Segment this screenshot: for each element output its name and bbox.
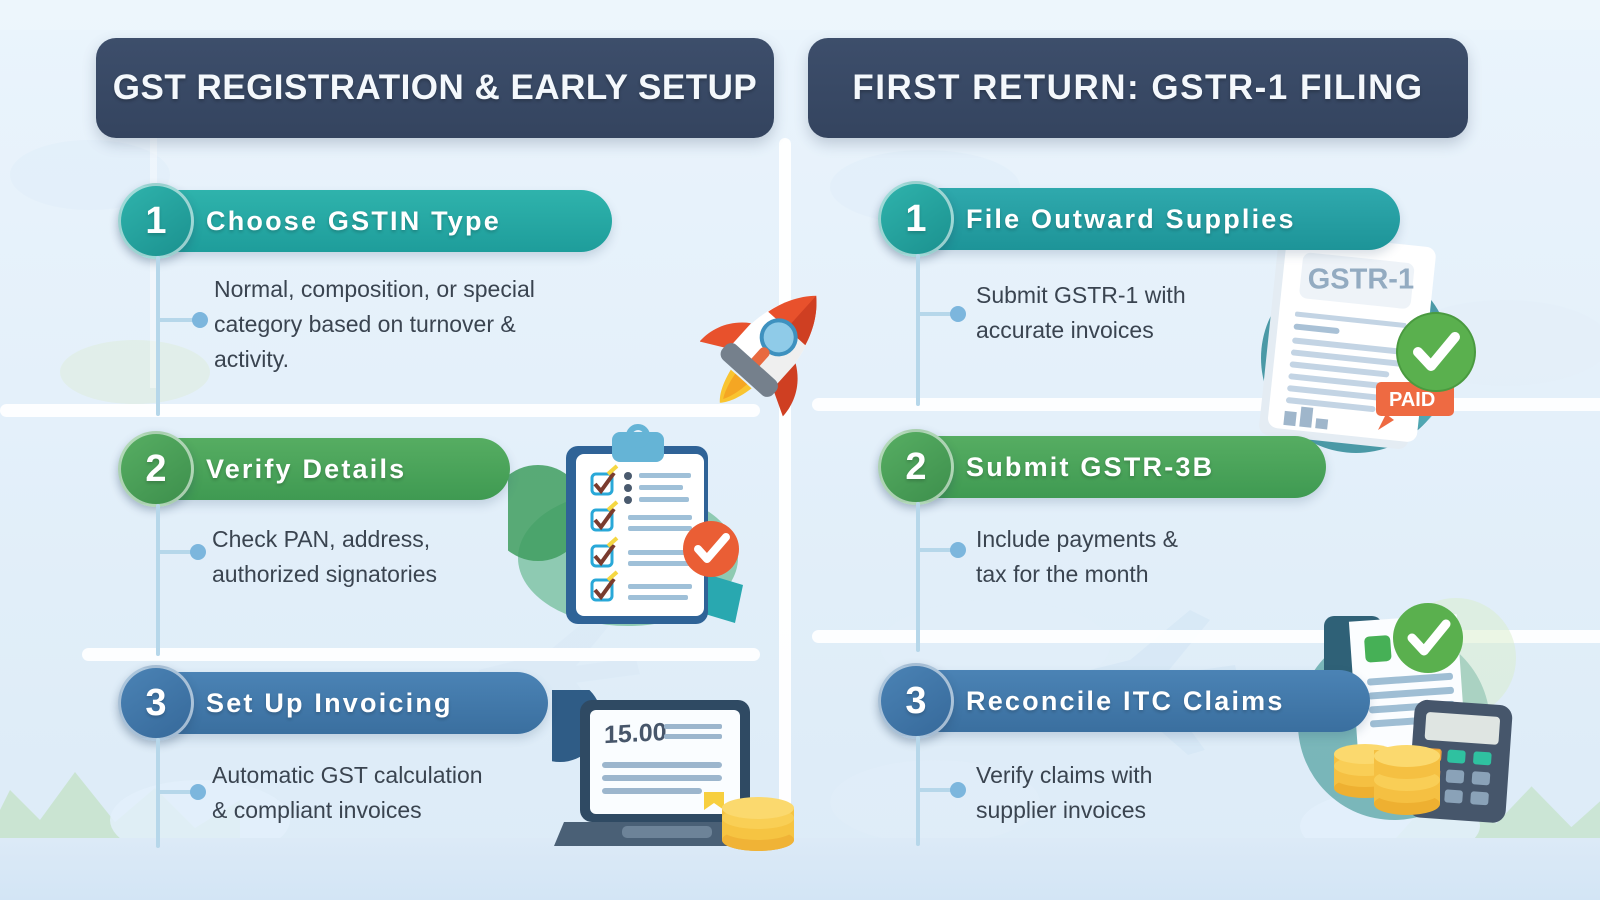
left-header-text: GST REGISTRATION & EARLY SETUP (113, 68, 757, 108)
infographic-canvas: GST REGISTRATION & EARLY SETUP FIRST RET… (0, 0, 1600, 900)
step-left-2-description: Check PAN, address, authorized signatori… (212, 522, 632, 592)
step-left-1[interactable]: 1 Choose GSTIN Type (120, 190, 612, 252)
step-right-1-badge: 1 (878, 181, 954, 257)
step-left-2-badge: 2 (118, 431, 194, 507)
step-left-1-badge: 1 (118, 183, 194, 259)
step-left-2-title: Verify Details (206, 454, 406, 485)
step-right-2[interactable]: 2 Submit GSTR-3B (880, 436, 1326, 498)
step-left-2-pill[interactable]: 2 Verify Details (120, 438, 510, 500)
bg-cloud-5 (60, 340, 210, 404)
step-right-2-title: Submit GSTR-3B (966, 452, 1214, 483)
step-right-2-pill[interactable]: 2 Submit GSTR-3B (880, 436, 1326, 498)
step-left-1-description: Normal, composition, or special category… (214, 272, 634, 377)
step-right-3-number: 3 (905, 680, 926, 723)
gstr1-document-illustration: GSTR-1 PAID (1246, 236, 1486, 466)
svg-text:15.00: 15.00 (604, 718, 667, 749)
svg-text:PAID: PAID (1389, 389, 1435, 411)
step-right-1-pill[interactable]: 1 File Outward Supplies (880, 188, 1400, 250)
step-right-3-badge: 3 (878, 663, 954, 739)
connector-right-2-vertical (916, 502, 920, 652)
connector-right-3-dot (950, 782, 966, 798)
step-right-3-title: Reconcile ITC Claims (966, 686, 1285, 717)
step-right-1-number: 1 (905, 198, 926, 241)
right-column-header: FIRST RETURN: GSTR-1 FILING (808, 38, 1468, 138)
step-left-2-number: 2 (145, 448, 166, 491)
svg-text:GSTR-1: GSTR-1 (1308, 264, 1414, 296)
connector-left-1-vertical (156, 256, 160, 416)
step-right-2-description: Include payments & tax for the month (976, 522, 1306, 592)
connector-right-1-dot (950, 306, 966, 322)
connector-right-2-dot (950, 542, 966, 558)
step-right-1-title: File Outward Supplies (966, 204, 1296, 235)
step-left-3-pill[interactable]: 3 Set Up Invoicing (120, 672, 548, 734)
step-left-1-pill[interactable]: 1 Choose GSTIN Type (120, 190, 612, 252)
left-column-header: GST REGISTRATION & EARLY SETUP (96, 38, 774, 138)
divider-horizontal-3 (82, 648, 760, 661)
step-right-3-pill[interactable]: 3 Reconcile ITC Claims (880, 670, 1370, 732)
step-left-3-badge: 3 (118, 665, 194, 741)
step-left-3-description: Automatic GST calculation & compliant in… (212, 758, 632, 828)
step-left-1-number: 1 (145, 200, 166, 243)
bg-top-band (0, 0, 1600, 30)
rocket-illustration (700, 272, 840, 422)
step-left-3-title: Set Up Invoicing (206, 688, 453, 719)
step-right-2-badge: 2 (878, 429, 954, 505)
step-right-1-description: Submit GSTR-1 with accurate invoices (976, 278, 1306, 348)
connector-left-2-dot (190, 544, 206, 560)
connector-left-3-dot (190, 784, 206, 800)
step-left-3[interactable]: 3 Set Up Invoicing (120, 672, 548, 734)
step-left-1-title: Choose GSTIN Type (206, 206, 501, 237)
connector-left-1-dot (192, 312, 208, 328)
step-left-2[interactable]: 2 Verify Details (120, 438, 510, 500)
connector-right-1-vertical (916, 254, 920, 406)
step-right-3-description: Verify claims with supplier invoices (976, 758, 1306, 828)
step-left-3-number: 3 (145, 682, 166, 725)
right-header-text: FIRST RETURN: GSTR-1 FILING (852, 68, 1423, 108)
step-right-3[interactable]: 3 Reconcile ITC Claims (880, 670, 1370, 732)
step-right-2-number: 2 (905, 446, 926, 489)
connector-left-2-vertical (156, 504, 160, 656)
step-right-1[interactable]: 1 File Outward Supplies (880, 188, 1400, 250)
divider-horizontal-1 (0, 404, 760, 417)
